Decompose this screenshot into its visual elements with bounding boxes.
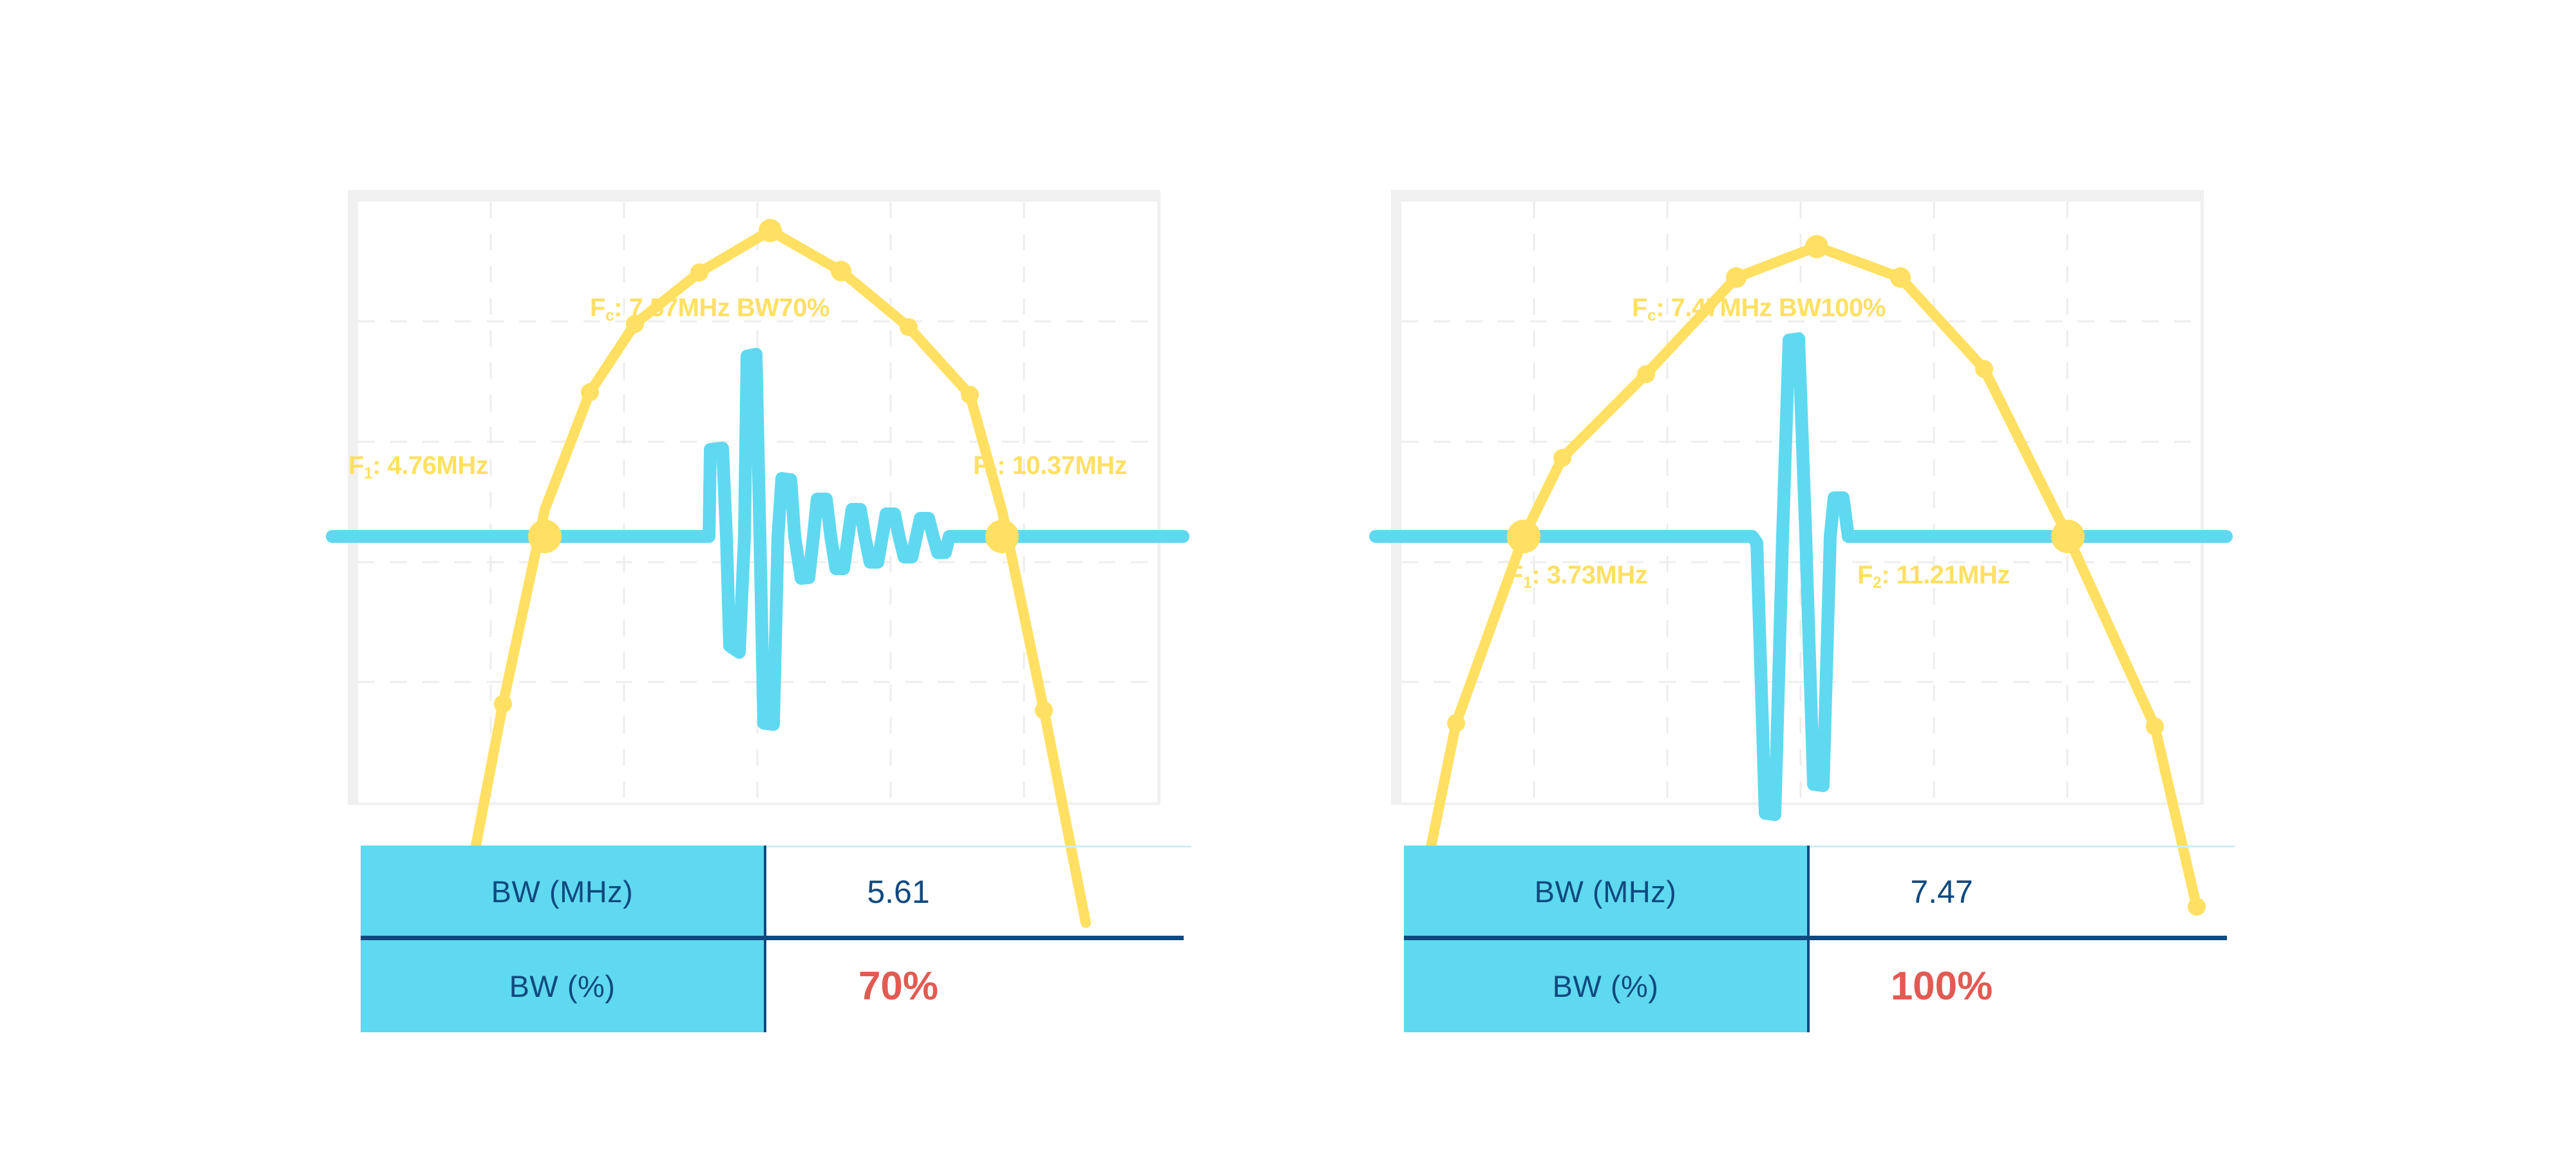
f1-symbol: F [1508,561,1523,589]
pulse-waveform-left [332,354,1183,724]
plot-area-right: Fc: 7.47MHz BW100% F1: 3.73MHz F2: 11.21… [1401,202,2201,802]
fc-subscript: c [1647,307,1656,325]
bw-mhz-value: 7.47 [1910,873,1973,911]
bw-pct-header-cell: BW (%) [361,940,766,1032]
bw-pct-header-label: BW (%) [1553,969,1659,1004]
f2-symbol: F [973,451,989,480]
f2-symbol: F [1857,561,1873,589]
bw-pct-value: 70% [858,963,938,1009]
dual-panel-figure: Fc: 7.57MHz BW70% F1: 4.76MHz F2: 10.37M… [0,0,2576,1154]
bw-mhz-header-cell: BW (MHz) [361,846,766,938]
f2-marker [2051,520,2085,553]
f2-annotation-left: F2: 10.37MHz [973,453,1127,478]
bw-pct-value: 100% [1891,963,1993,1009]
fc-value-text: : 7.47MHz BW100% [1656,294,1886,322]
plot-area-left: Fc: 7.57MHz BW70% F1: 4.76MHz F2: 10.37M… [358,202,1157,802]
fc-value-text: : 7.57MHz BW70% [614,294,829,322]
bw-pct-value-cell: 70% [766,940,1198,1032]
table-row: BW (MHz) 5.61 [361,846,1198,938]
table-divider-rule [1404,936,2227,940]
f1-symbol: F [348,451,364,480]
f1-subscript: 1 [364,465,372,482]
f2-marker [985,520,1019,553]
pulse-waveform-right [1376,339,2226,815]
table-divider-rule [361,936,1184,940]
f1-value-text: : 3.73MHz [1531,561,1647,589]
f2-value-text: : 10.37MHz [997,451,1127,480]
fc-annotation-right: Fc: 7.47MHz BW100% [1632,295,1886,321]
panel-left: Fc: 7.57MHz BW70% F1: 4.76MHz F2: 10.37M… [348,190,1160,805]
bw-mhz-header-label: BW (MHz) [1535,874,1677,909]
f2-value-text: : 11.21MHz [1881,561,2010,589]
bw-mhz-header-label: BW (MHz) [491,874,634,909]
bw-mhz-value-cell: 5.61 [766,846,1198,938]
plot-frame-left: Fc: 7.57MHz BW70% F1: 4.76MHz F2: 10.37M… [348,190,1160,805]
f1-annotation-left: F1: 4.76MHz [348,453,488,478]
f1-annotation-right: F1: 3.73MHz [1508,562,1647,588]
fc-symbol: F [1632,294,1647,322]
table-row: BW (MHz) 7.47 [1404,846,2241,938]
spectrum-chart-right [1401,202,2201,802]
f1-marker [528,520,562,553]
bw-pct-header-label: BW (%) [509,969,616,1004]
bw-mhz-value: 5.61 [867,873,929,911]
panel-right: Fc: 7.47MHz BW100% F1: 3.73MHz F2: 11.21… [1391,190,2204,805]
bw-mhz-value-cell: 7.47 [1810,846,2241,938]
fc-subscript: c [605,307,614,325]
bw-pct-value-cell: 100% [1810,940,2241,1032]
f2-annotation-right: F2: 11.21MHz [1857,562,2010,588]
f1-marker [1507,520,1540,553]
bw-pct-header-cell: BW (%) [1404,940,1810,1032]
f1-subscript: 1 [1523,574,1531,592]
f1-value-text: : 4.76MHz [372,451,488,480]
bw-table-right: BW (MHz) 7.47 BW (%) 100% [1404,846,2241,1032]
table-row: BW (%) 70% [361,940,1198,1032]
f2-subscript: 2 [989,465,997,482]
bw-mhz-header-cell: BW (MHz) [1404,846,1810,938]
table-row: BW (%) 100% [1404,940,2241,1032]
bw-table-left: BW (MHz) 5.61 BW (%) 70% [361,846,1198,1032]
spectrum-chart-left [358,202,1157,802]
fc-annotation-left: Fc: 7.57MHz BW70% [590,295,829,321]
plot-frame-right: Fc: 7.47MHz BW100% F1: 3.73MHz F2: 11.21… [1391,190,2204,805]
f2-subscript: 2 [1873,574,1881,592]
fc-symbol: F [590,294,605,322]
